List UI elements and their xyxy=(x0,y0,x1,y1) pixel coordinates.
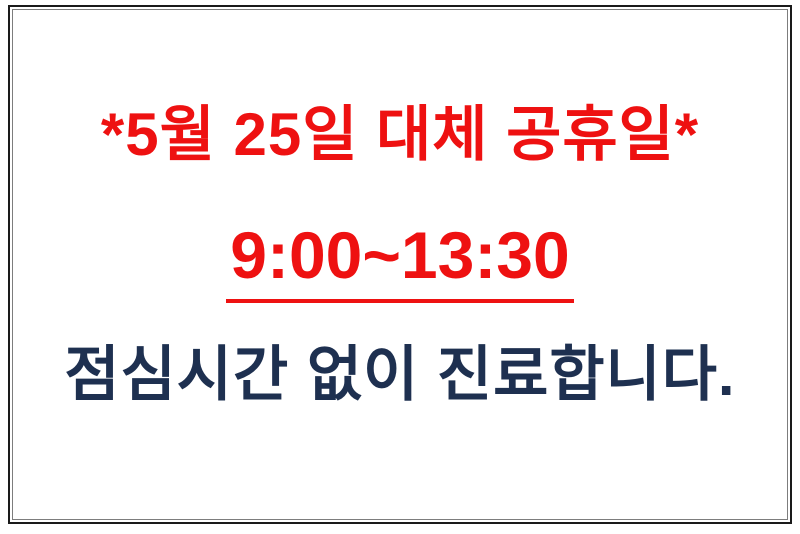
hours-row: 9:00~13:30 xyxy=(12,217,788,303)
opening-hours-text: 9:00~13:30 xyxy=(226,217,573,303)
lunch-break-note: 점심시간 없이 진료합니다. xyxy=(12,345,788,405)
holiday-headline: *5월 25일 대체 공휴일* xyxy=(12,105,788,165)
notice-content: *5월 25일 대체 공휴일* 9:00~13:30 점심시간 없이 진료합니다… xyxy=(12,9,788,520)
notice-poster: *5월 25일 대체 공휴일* 9:00~13:30 점심시간 없이 진료합니다… xyxy=(0,0,800,534)
